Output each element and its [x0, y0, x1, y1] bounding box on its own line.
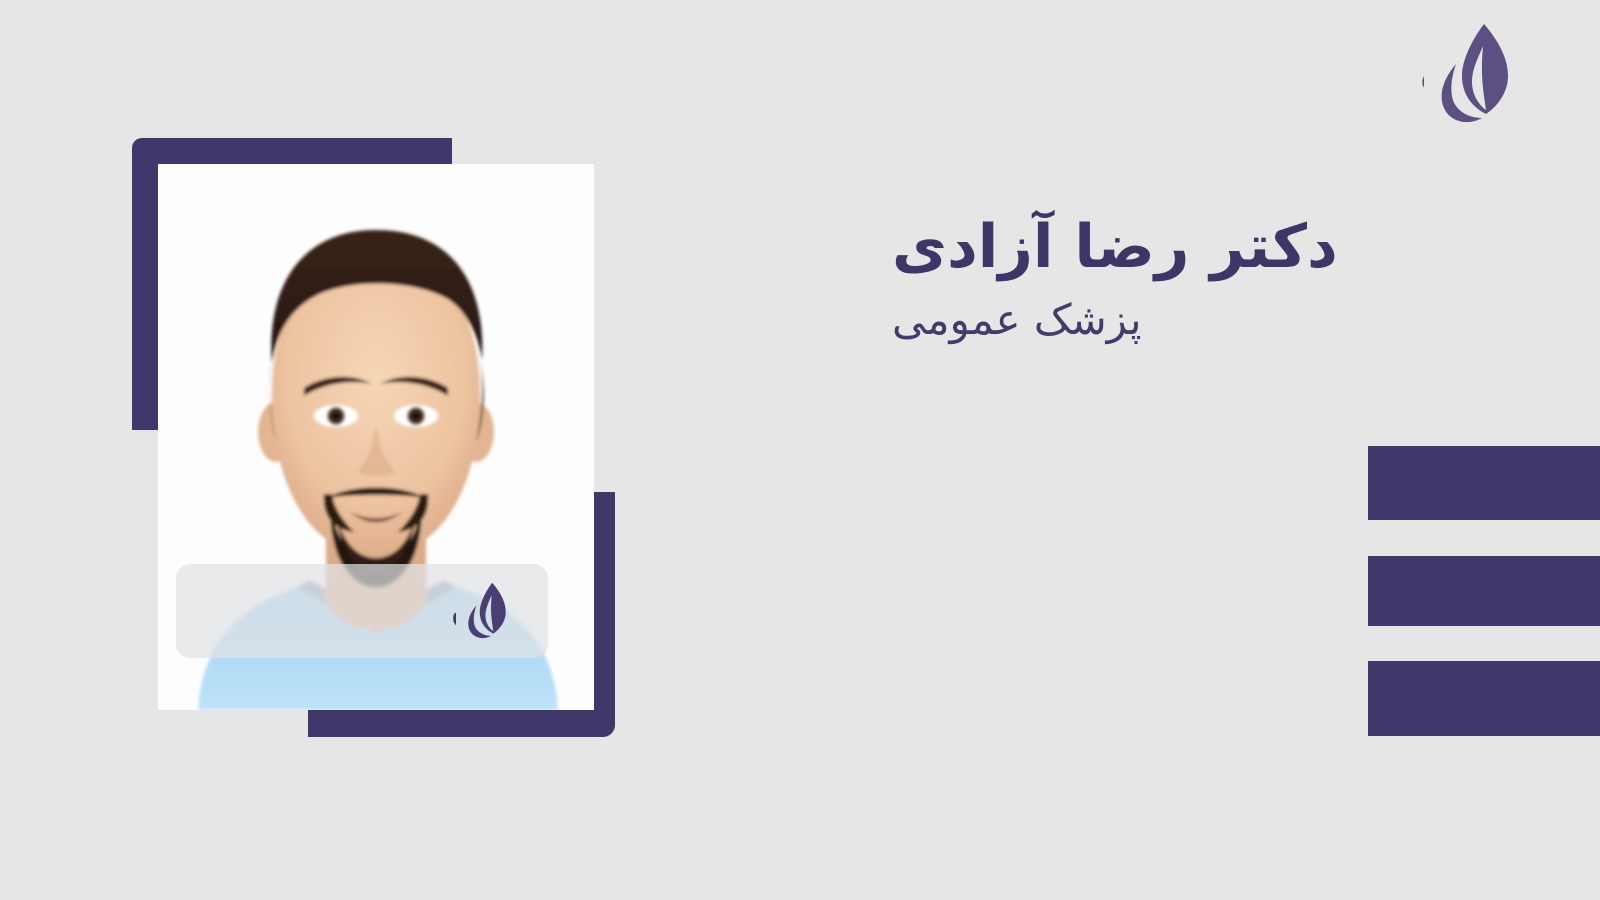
- photo-watermark: اکسیریاب: [176, 564, 548, 658]
- headline-block: دکتر رضا آزادی پزشک عمومی: [892, 214, 1512, 346]
- brand-name-text: اکسیریاب: [1419, 45, 1424, 105]
- portrait-composition: اکسیریاب: [132, 138, 622, 748]
- decorative-bars-group: [1368, 446, 1600, 736]
- watermark-wordmark: اکسیریاب: [216, 574, 456, 648]
- flame-droplet-icon: [464, 580, 508, 642]
- doctor-specialty: پزشک عمومی: [892, 295, 1512, 345]
- decorative-bar-2: [1368, 556, 1600, 626]
- doctor-photo: اکسیریاب: [158, 164, 594, 710]
- brand-wordmark: اکسیریاب: [1214, 32, 1424, 116]
- flame-droplet-icon: [1434, 22, 1512, 126]
- decorative-bar-1: [1368, 446, 1600, 520]
- watermark-brand-text: اکسیریاب: [450, 582, 456, 641]
- decorative-bar-3: [1368, 661, 1600, 736]
- doctor-name: دکتر رضا آزادی: [892, 214, 1512, 281]
- brand-logo[interactable]: اکسیریاب: [1214, 22, 1512, 126]
- profile-card-canvas: اکسیریاب دکتر رضا آزادی پزشک عمومی: [0, 0, 1600, 900]
